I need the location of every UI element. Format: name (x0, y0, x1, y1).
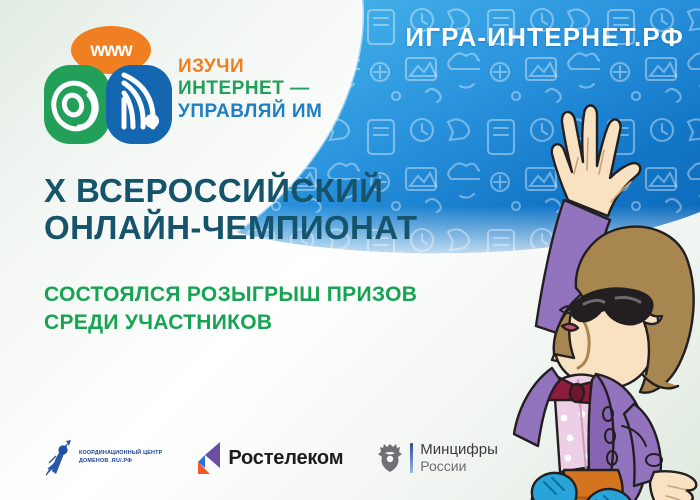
subheadline-line-2: СРЕДИ УЧАСТНИКОВ (44, 309, 417, 337)
mincifry-divider (410, 443, 413, 473)
poster-root: ИГРА-ИНТЕРНЕТ.РФ www (0, 0, 700, 500)
partner-mincifry[interactable]: Минцифры России (377, 442, 498, 474)
mincifry-line-1: Минцифры (420, 442, 498, 459)
tagline-line-2: ИНТЕРНЕТ — (178, 78, 322, 100)
coordination-center-text: КООРДИНАЦИОННЫЙ ЦЕНТР ДОМЕНОВ .RU/.РФ (79, 450, 162, 466)
cartoon-man-waving-illustration (456, 74, 700, 500)
russian-coat-of-arms-icon (377, 443, 403, 473)
at-sign-icon (44, 65, 110, 144)
kc-line-1: КООРДИНАЦИОННЫЙ ЦЕНТР (79, 450, 162, 458)
mincifry-line-2: России (420, 459, 498, 475)
logo-tagline: ИЗУЧИ ИНТЕРНЕТ — УПРАВЛЯЙ ИМ (178, 56, 322, 123)
partner-coordination-center[interactable]: КООРДИНАЦИОННЫЙ ЦЕНТР ДОМЕНОВ .RU/.РФ (44, 438, 162, 478)
headline-line-2: ОНЛАЙН-ЧЕМПИОНАТ (44, 209, 417, 246)
page-subtitle: СОСТОЯЛСЯ РОЗЫГРЫШ ПРИЗОВ СРЕДИ УЧАСТНИК… (44, 281, 417, 338)
page-title: X ВСЕРОССИЙСКИЙ ОНЛАЙН-ЧЕМПИОНАТ (44, 172, 417, 247)
izuchi-internet-logo[interactable]: www (42, 26, 170, 144)
partner-rostelecom[interactable]: Ростелеком (196, 441, 343, 475)
partner-logos: КООРДИНАЦИОННЫЙ ЦЕНТР ДОМЕНОВ .RU/.РФ Ро… (44, 438, 498, 478)
headline-line-1: X ВСЕРОССИЙСКИЙ (44, 172, 417, 209)
wifi-icon (106, 65, 172, 144)
rostelecom-ear-icon (196, 441, 222, 475)
kc-line-2: ДОМЕНОВ .RU/.РФ (79, 458, 162, 466)
site-url[interactable]: ИГРА-ИНТЕРНЕТ.РФ (405, 22, 684, 53)
rostelecom-name: Ростелеком (228, 447, 343, 470)
mincifry-name: Минцифры России (420, 442, 498, 474)
rocket-icon (44, 438, 74, 478)
tagline-line-1: ИЗУЧИ (178, 56, 322, 78)
www-label: www (90, 41, 131, 60)
tagline-line-3: УПРАВЛЯЙ ИМ (178, 101, 322, 123)
subheadline-line-1: СОСТОЯЛСЯ РОЗЫГРЫШ ПРИЗОВ (44, 281, 417, 309)
